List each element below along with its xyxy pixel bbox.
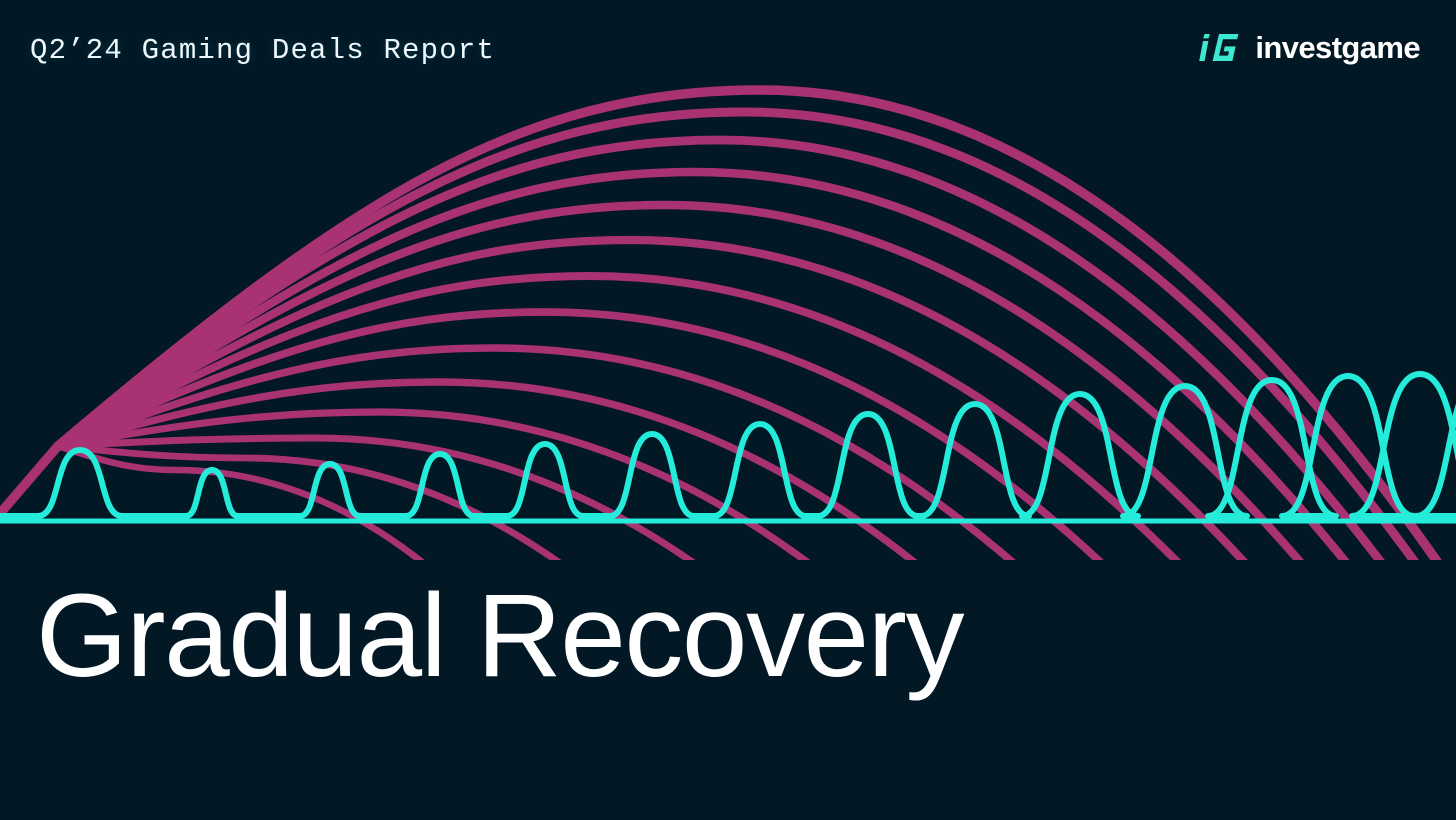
magenta-arc-group bbox=[0, 90, 1456, 560]
abstract-curves-svg bbox=[0, 0, 1456, 560]
page-title: Gradual Recovery bbox=[36, 573, 963, 700]
magenta-arc-6 bbox=[0, 240, 1350, 560]
report-cover-slide: Q2’24 Gaming Deals Report investgame Gra… bbox=[0, 0, 1456, 820]
hero-artwork bbox=[0, 0, 1456, 560]
